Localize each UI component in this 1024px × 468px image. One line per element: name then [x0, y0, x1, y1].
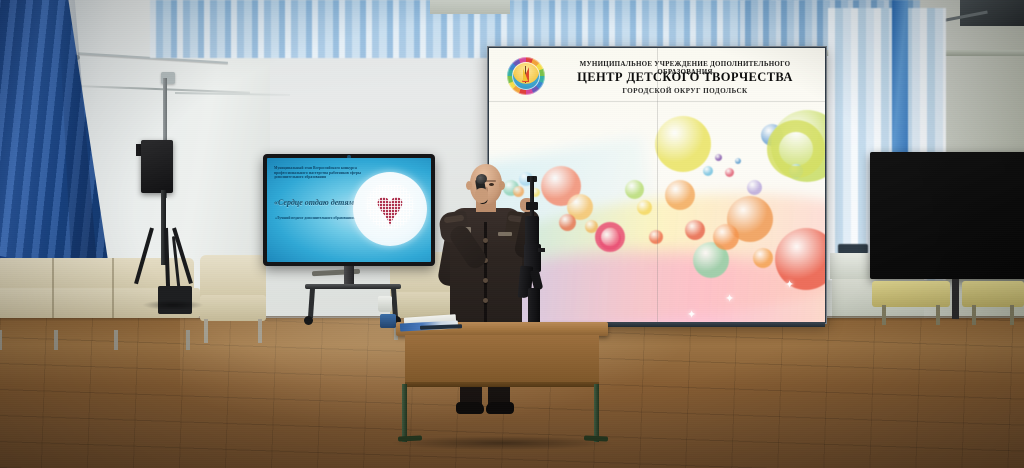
photo-scene: Муниципальный этап Всероссийского конкур… — [0, 0, 1024, 468]
ceiling-strip — [430, 0, 510, 14]
heart-wordcloud-icon: ♥ — [362, 182, 418, 234]
banner-bubble-ring — [767, 120, 825, 178]
banner-bubble — [559, 214, 576, 231]
desk-leg — [594, 384, 599, 442]
wall-television[interactable] — [870, 152, 1024, 279]
chair-leg — [204, 319, 208, 343]
chair-yellow — [962, 281, 1024, 307]
banner-bubble — [665, 180, 695, 210]
desk-panel-edge — [405, 382, 599, 387]
hand-left — [475, 188, 488, 203]
banner-sparkle-icon: ✦ — [725, 292, 734, 305]
booklets-on-desk — [400, 316, 460, 330]
pa-speaker — [141, 140, 173, 193]
banner-bubble — [713, 224, 739, 250]
assault-rifle — [516, 176, 550, 344]
banner-bubble — [747, 180, 762, 195]
chair-backrest — [200, 255, 266, 299]
chair-leg — [186, 330, 190, 350]
jacket-button — [483, 278, 488, 283]
banner-sparkle-icon: ✦ — [687, 308, 696, 321]
banner-panel-seam — [657, 48, 658, 322]
chair-leg — [54, 330, 58, 350]
rifle-gas-block — [526, 202, 538, 210]
display-stand-neck — [344, 266, 354, 284]
jacket-button — [483, 298, 488, 303]
banner-bubble — [625, 180, 644, 199]
banner-bubble — [649, 230, 663, 244]
blue-box — [380, 314, 396, 328]
emblem-sail-secondary-icon — [523, 68, 528, 81]
banner-bubble — [685, 220, 705, 240]
desk-leg — [402, 384, 407, 442]
uniform-nameplate — [498, 232, 512, 236]
banner-line-2: ЦЕНТР ДЕТСКОГО ТВОРЧЕСТВА — [551, 70, 819, 85]
chair-divider — [112, 258, 114, 318]
banner-bubble — [753, 248, 773, 268]
chair-leg — [0, 330, 2, 350]
banner-bubble — [735, 158, 741, 164]
tripod-shadow — [142, 300, 204, 310]
slide-header-text: Муниципальный этап Всероссийского конкур… — [274, 166, 382, 180]
banner-line-3: ГОРОДСКОЙ ОКРУГ ПОДОЛЬСК — [551, 87, 819, 95]
banner-bubble — [703, 166, 713, 176]
banner-bubble — [655, 116, 711, 172]
chair — [200, 255, 266, 339]
chair-seat — [200, 295, 266, 321]
ear-right — [499, 181, 505, 190]
eye-right — [489, 183, 494, 186]
television-stand — [952, 279, 959, 319]
rifle-handguard — [525, 216, 539, 246]
display-screen[interactable]: Муниципальный этап Всероссийского конкур… — [267, 158, 431, 262]
desk-shadow — [392, 436, 612, 450]
chair-divider — [52, 258, 54, 318]
banner-bubble — [725, 168, 734, 177]
banner-bubble — [715, 154, 722, 161]
banner-bubble — [637, 200, 652, 215]
rifle-charging-handle — [538, 248, 545, 252]
jacket-button — [483, 238, 488, 243]
ear-left — [466, 181, 472, 190]
chair-leg — [258, 319, 262, 343]
banner-sparkle-icon: ✦ — [785, 278, 794, 291]
chair-yellow — [872, 281, 950, 307]
banner-bubble-ring — [595, 222, 625, 252]
white-container — [378, 296, 392, 312]
dark-folder — [420, 324, 462, 329]
wooden-school-desk — [396, 322, 608, 442]
display-caster-wheel — [304, 316, 313, 325]
display-stand-bar — [305, 284, 401, 289]
chair-leg — [114, 330, 118, 350]
interactive-whiteboard[interactable]: Муниципальный этап Всероссийского конкур… — [263, 154, 435, 266]
rifle-barrel — [530, 176, 534, 218]
desk-front-panel — [405, 335, 599, 385]
